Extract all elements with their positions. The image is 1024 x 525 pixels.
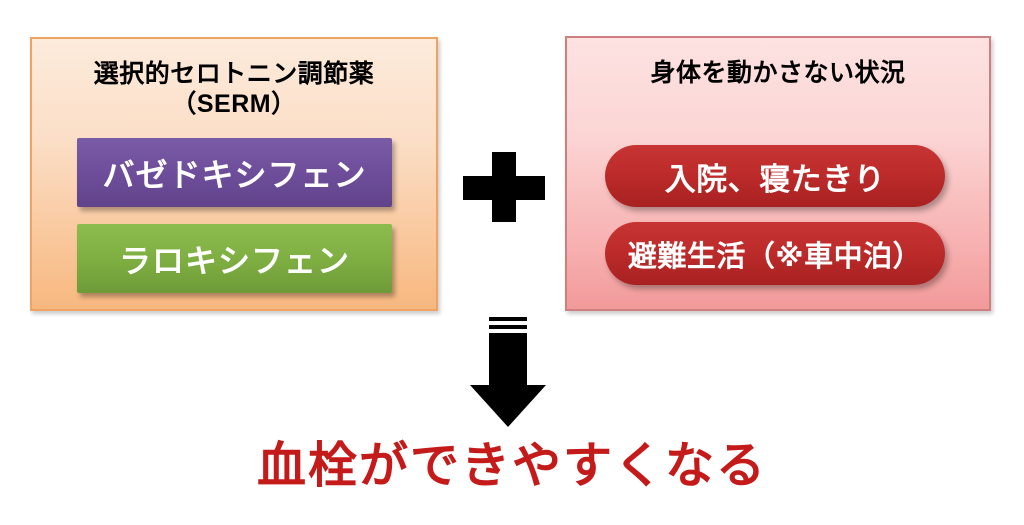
down-arrow-icon-cap-second [489,325,527,329]
drug-chip-raloxifene: ラロキシフェン [77,224,392,293]
group-box-immobility: 身体を動かさない状況 入院、寝たきり 避難生活（※車中泊） [565,36,991,311]
outcome-label: 血栓ができやすくなる [0,440,1024,494]
condition-chip-hospitalized: 入院、寝たきり [605,145,945,207]
down-arrow-icon-shaft [489,333,527,391]
down-arrow-icon-cap-top [489,317,527,321]
group-box-serm: 選択的セロトニン調節薬 （SERM） バゼドキシフェン ラロキシフェン [30,37,438,311]
plus-icon-vertical-bar [492,152,516,222]
group-title-immobility: 身体を動かさない状況 [567,58,989,88]
down-arrow-icon [468,317,548,427]
down-arrow-icon-head [470,385,546,427]
group-title-serm: 選択的セロトニン調節薬 （SERM） [32,59,436,119]
drug-chip-bazedoxifene: バゼドキシフェン [77,138,392,207]
plus-icon [463,152,545,222]
condition-chip-evacuation: 避難生活（※車中泊） [605,222,945,285]
diagram-canvas: 選択的セロトニン調節薬 （SERM） バゼドキシフェン ラロキシフェン 身体を動… [0,0,1024,525]
